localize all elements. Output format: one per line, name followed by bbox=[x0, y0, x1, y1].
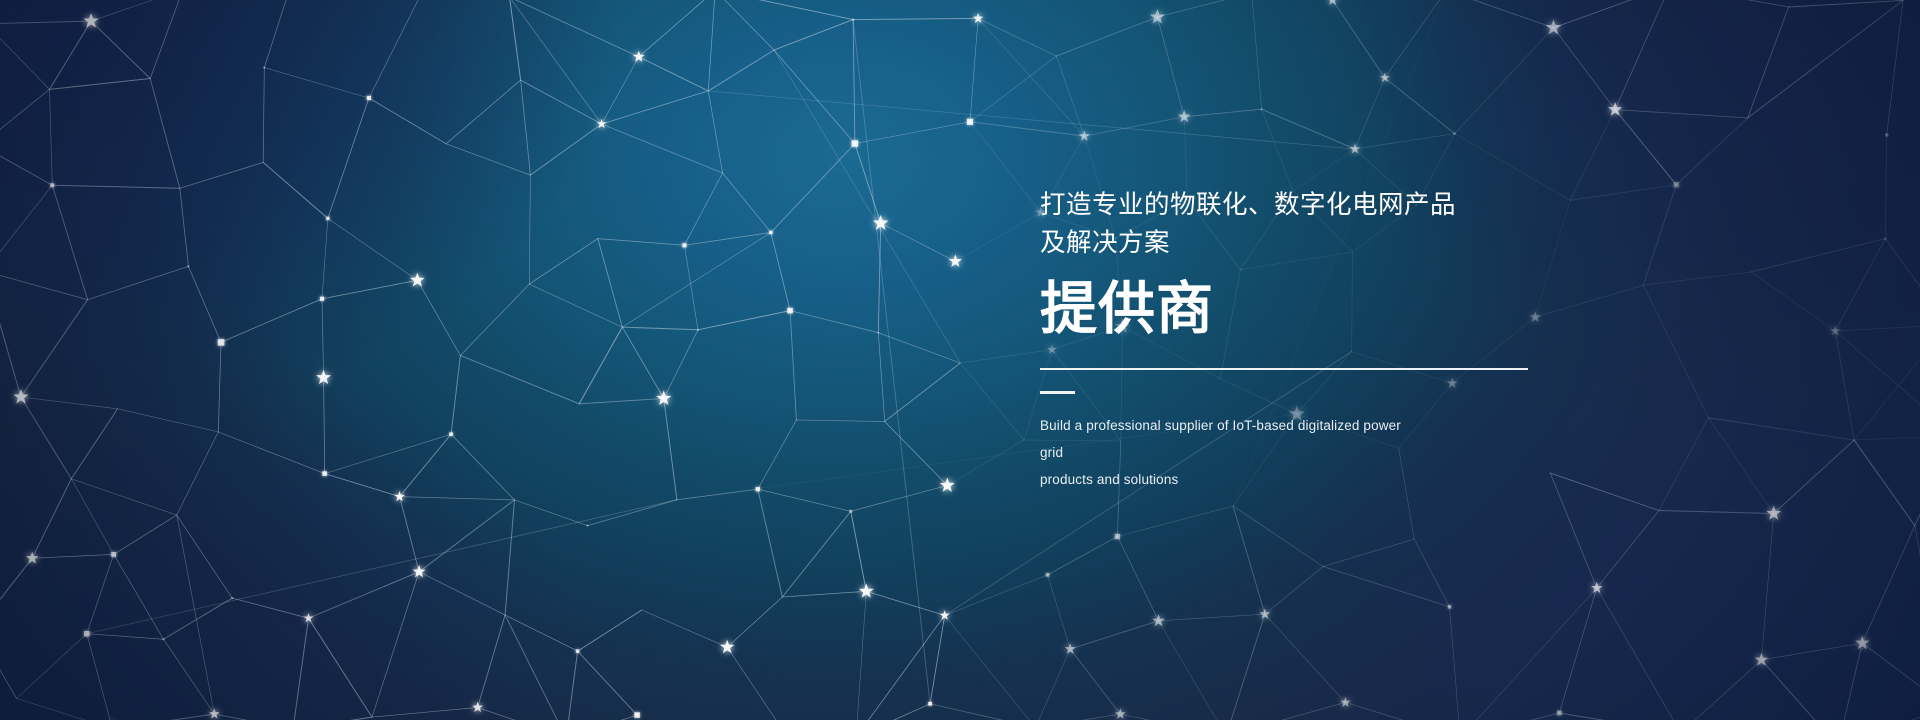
hero-kicker-line-2: 及解决方案 bbox=[1040, 224, 1560, 262]
hero-kicker-line-1: 打造专业的物联化、数字化电网产品 bbox=[1040, 186, 1560, 224]
hero-divider-group bbox=[1040, 368, 1560, 394]
hero-subtitle: Build a professional supplier of IoT-bas… bbox=[1040, 412, 1410, 493]
hero-divider-long bbox=[1040, 368, 1528, 370]
hero-divider-short bbox=[1040, 391, 1075, 394]
hero-headline: 提供商 bbox=[1040, 278, 1560, 340]
hero-banner: 打造专业的物联化、数字化电网产品 及解决方案 提供商 Build a profe… bbox=[0, 0, 1920, 720]
hero-subtitle-line-1: Build a professional supplier of IoT-bas… bbox=[1040, 412, 1410, 466]
background-vignette bbox=[0, 0, 1920, 720]
hero-subtitle-line-2: products and solutions bbox=[1040, 466, 1410, 493]
hero-text-block: 打造专业的物联化、数字化电网产品 及解决方案 提供商 Build a profe… bbox=[1040, 186, 1560, 493]
